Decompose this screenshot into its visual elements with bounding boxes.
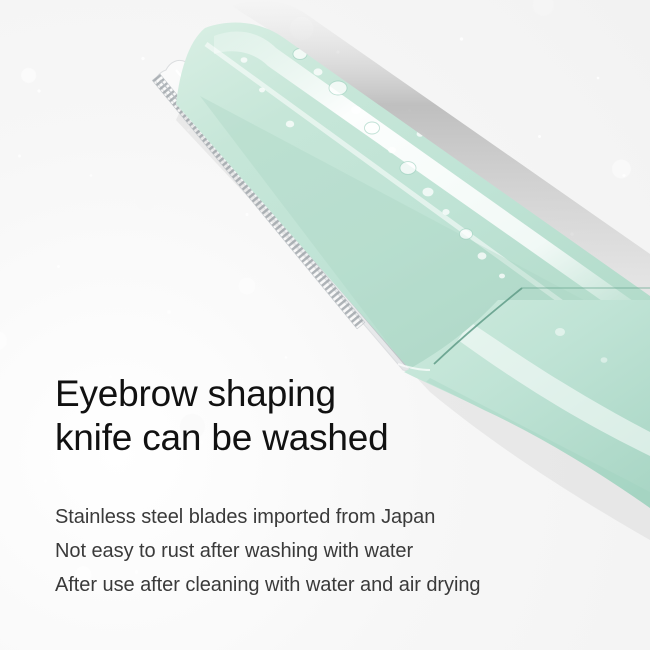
feature-item-3: After use after cleaning with water and … <box>55 568 625 602</box>
product-banner: Eyebrow shaping knife can be washed Stai… <box>0 0 650 650</box>
feature-item-1: Stainless steel blades imported from Jap… <box>55 500 625 534</box>
headline-block: Eyebrow shaping knife can be washed <box>55 372 615 460</box>
feature-list: Stainless steel blades imported from Jap… <box>55 500 625 602</box>
page-title: Eyebrow shaping knife can be washed <box>55 372 615 460</box>
feature-item-2: Not easy to rust after washing with wate… <box>55 534 625 568</box>
